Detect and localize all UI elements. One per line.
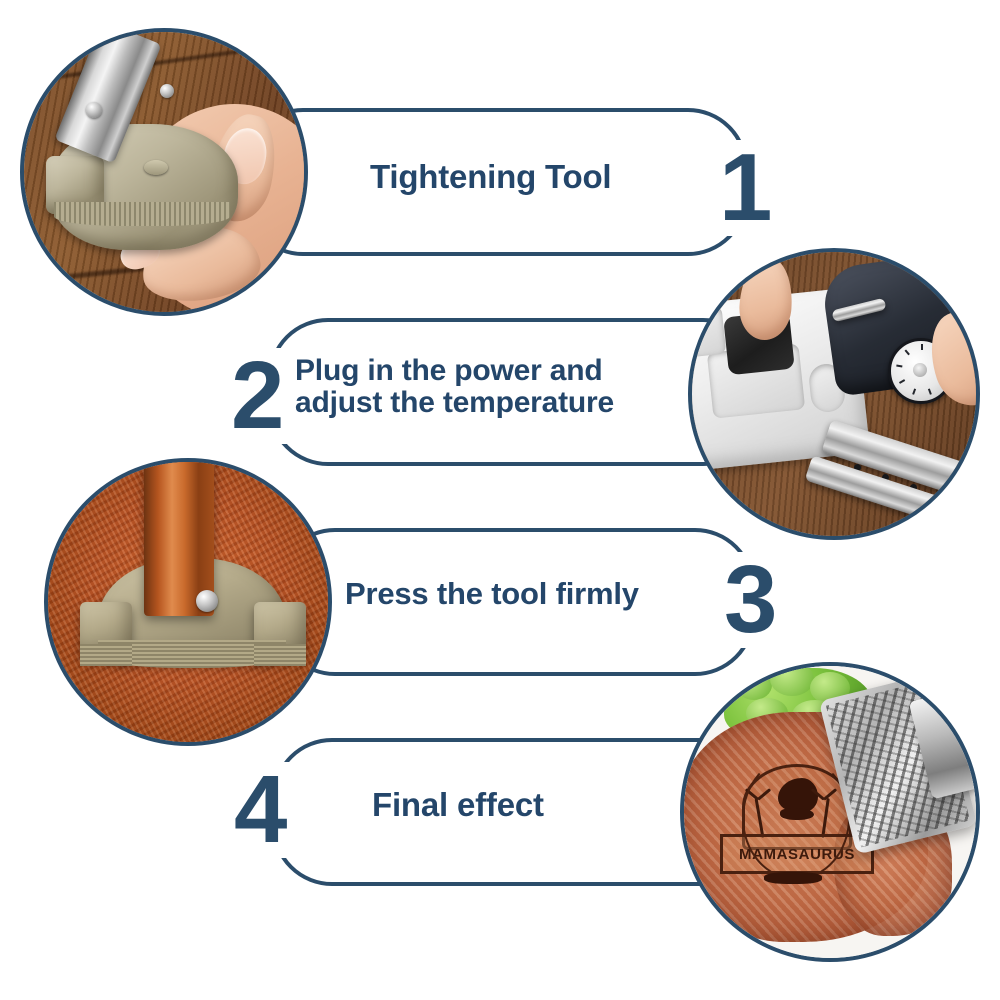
step-2-photo: [688, 248, 980, 540]
step-2-number: 2: [225, 348, 290, 444]
brass-stamp-edge: [80, 644, 132, 666]
step-1-photo: [20, 28, 308, 316]
step-1-number: 1: [713, 140, 778, 236]
step-3-number: 3: [718, 552, 783, 648]
step-4-photo-content: MAMASAURUS: [684, 666, 976, 958]
logo-outer-ring: [742, 756, 850, 880]
step-3-photo: [44, 458, 332, 746]
step-2-label: Plug in the power and adjust the tempera…: [295, 355, 695, 418]
stamp-post-nub: [144, 160, 168, 175]
logo-bottom-foliage: [764, 872, 822, 884]
brass-stamp-edge: [54, 202, 230, 226]
step-4-label: Final effect: [372, 788, 544, 823]
step-3-label: Press the tool firmly: [345, 578, 639, 611]
dial-tick: [896, 365, 902, 368]
step-2-photo-content: [692, 252, 976, 536]
lettuce-leaf: [770, 662, 814, 696]
dial-tick: [899, 379, 905, 384]
dial-tick: [905, 349, 910, 355]
screw: [196, 590, 218, 612]
dial-tick: [912, 388, 916, 394]
steps-infographic: Tightening Tool 1 Plug in the power and …: [0, 0, 1000, 1000]
step-1-label: Tightening Tool: [370, 160, 611, 195]
lettuce-leaf: [736, 670, 772, 700]
screw: [160, 84, 174, 98]
step-2-label-line2: adjust the temperature: [295, 386, 614, 419]
power-socket: [688, 306, 726, 359]
dial-tick: [928, 388, 932, 394]
step-4-number: 4: [228, 762, 293, 858]
screw: [86, 102, 102, 118]
step-2-label-line1: Plug in the power and: [295, 354, 602, 387]
step-4-photo: MAMASAURUS: [680, 662, 980, 962]
dial-center-knob[interactable]: [913, 363, 927, 377]
dial-tick: [921, 344, 923, 350]
step-1-photo-content: [24, 32, 304, 312]
step-3-photo-content: [48, 462, 328, 742]
brass-stamp-edge: [254, 644, 306, 666]
